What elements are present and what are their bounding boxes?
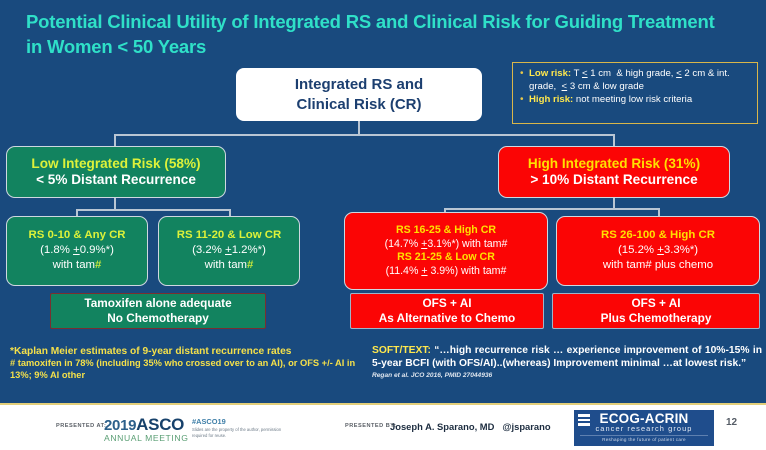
connector-root-stem <box>358 121 360 135</box>
high-risk-sub: > 10% Distant Recurrence <box>530 172 697 188</box>
treatment-line-1: OFS + AI <box>631 296 680 311</box>
treatment-line-1: Tamoxifen alone adequate <box>84 296 231 311</box>
asco-logo: 2019ASCO ANNUAL MEETING <box>104 415 188 443</box>
rs-26-100-treatment: with tam# plus chemo <box>603 258 713 273</box>
ecog-subtitle: cancer research group <box>574 424 714 433</box>
low-risk-header: Low Integrated Risk (58%) <box>31 156 200 172</box>
legend-label-high-risk: High risk: <box>529 94 573 105</box>
connector-high-horizontal <box>444 208 659 210</box>
rs-26-100-value: (15.2% +3.3%*) <box>618 244 698 259</box>
soft-text-quote-block: SOFT/TEXT: “…high recurrence risk … expe… <box>372 344 762 380</box>
asco-hashtag: #ASCO19 <box>192 417 287 426</box>
asco-hashtag-block: #ASCO19 Slides are the property of the a… <box>192 417 287 438</box>
footnote-line-2: # tamoxifen in 78% (including 35% who cr… <box>10 358 362 382</box>
rs-0-10-header: RS 0-10 & Any CR <box>28 229 125 244</box>
footnote-line-1: *Kaplan Meier estimates of 9-year distan… <box>10 346 291 357</box>
citation-text: Regan et al. JCO 2016, PMID 27044936 <box>372 372 762 381</box>
connector-low-horizontal <box>76 209 230 211</box>
speaker-name: Joseph A. Sparano, MD <box>390 421 494 432</box>
node-rs-11-20: RS 11-20 & Low CR (3.2% +1.2%*) with tam… <box>158 216 300 286</box>
speaker-handle: @jsparano <box>502 421 550 432</box>
high-risk-header: High Integrated Risk (31%) <box>528 156 700 172</box>
root-line-2: Clinical Risk (CR) <box>296 95 421 115</box>
ecog-tagline: Reshaping the future of patient care <box>580 435 708 442</box>
slide-canvas: Potential Clinical Utility of Integrated… <box>0 0 766 450</box>
rs-26-100-header: RS 26-100 & High CR <box>601 229 715 244</box>
treatment-line-1: OFS + AI <box>422 296 471 311</box>
legend-text-high-risk: not meeting low risk criteria <box>576 94 692 105</box>
asco-logo-top: 2019ASCO <box>104 415 188 435</box>
footnote-block: *Kaplan Meier estimates of 9-year distan… <box>10 345 362 382</box>
presented-at-label: PRESENTED AT: <box>56 423 106 429</box>
soft-text-label: SOFT/TEXT: <box>372 345 431 356</box>
page-title: Potential Clinical Utility of Integrated… <box>26 10 726 59</box>
rs-0-10-value: (1.8% +0.9%*) <box>40 244 114 259</box>
soft-text-quote: “…high recurrence risk … experience impr… <box>372 345 762 369</box>
legend-item-high-risk: High risk: not meeting low risk criteria <box>520 94 751 107</box>
rs-11-20-value: (3.2% +1.2%*) <box>192 244 266 259</box>
rs-0-10-treatment: with tam# <box>53 258 102 273</box>
root-node-integrated-rs: Integrated RS and Clinical Risk (CR) <box>236 68 482 121</box>
speaker-name-block: Joseph A. Sparano, MD@jsparano <box>390 421 551 432</box>
slide-footer: PRESENTED AT: 2019ASCO ANNUAL MEETING #A… <box>0 403 766 450</box>
treatment-ofs-ai-alternative: OFS + AI As Alternative to Chemo <box>350 293 544 329</box>
ecog-bars-icon <box>578 414 590 426</box>
rs-11-20-treatment: with tam# <box>205 258 254 273</box>
rs-21-25-value: (11.4% + 3.9%) with tam# <box>386 265 507 279</box>
legend-item-low-risk: Low risk: T < 1 cm & high grade, < 2 cm … <box>520 68 751 93</box>
low-risk-sub: < 5% Distant Recurrence <box>36 172 196 188</box>
asco-subtitle: ANNUAL MEETING <box>104 433 188 443</box>
node-low-integrated-risk: Low Integrated Risk (58%) < 5% Distant R… <box>6 146 226 198</box>
asco-fine-print: Slides are the property of the author, p… <box>192 427 287 438</box>
treatment-tamoxifen-alone: Tamoxifen alone adequate No Chemotherapy <box>50 293 266 329</box>
treatment-line-2: As Alternative to Chemo <box>379 311 516 326</box>
rs-21-25-header: RS 21-25 & Low CR <box>397 251 495 265</box>
node-rs-26-100: RS 26-100 & High CR (15.2% +3.3%*) with … <box>556 216 760 286</box>
rs-16-25-header: RS 16-25 & High CR <box>396 224 496 238</box>
tam-marker: # <box>95 259 101 271</box>
rs-16-25-value: (14.7% +3.1%*) with tam# <box>385 237 508 251</box>
presented-by-label: PRESENTED BY: <box>345 423 396 429</box>
treatment-ofs-ai-plus-chemo: OFS + AI Plus Chemotherapy <box>552 293 760 329</box>
legend-label-low-risk: Low risk: <box>529 68 571 79</box>
ecog-acrin-logo: ECOG-ACRIN cancer research group Reshapi… <box>574 410 714 446</box>
asco-year: 2019 <box>104 417 136 434</box>
node-rs-16-25: RS 16-25 & High CR (14.7% +3.1%*) with t… <box>344 212 548 290</box>
risk-criteria-legend: Low risk: T < 1 cm & high grade, < 2 cm … <box>512 62 758 124</box>
slide-number: 12 <box>726 417 737 428</box>
asco-wordmark: ASCO <box>136 415 184 434</box>
treatment-line-2: Plus Chemotherapy <box>601 311 712 326</box>
root-line-1: Integrated RS and <box>295 75 423 95</box>
rs-11-20-header: RS 11-20 & Low CR <box>177 229 281 244</box>
node-high-integrated-risk: High Integrated Risk (31%) > 10% Distant… <box>498 146 730 198</box>
treatment-line-2: No Chemotherapy <box>107 311 209 326</box>
connector-root-horizontal <box>114 134 614 136</box>
node-rs-0-10: RS 0-10 & Any CR (1.8% +0.9%*) with tam# <box>6 216 148 286</box>
tam-marker: # <box>247 259 253 271</box>
